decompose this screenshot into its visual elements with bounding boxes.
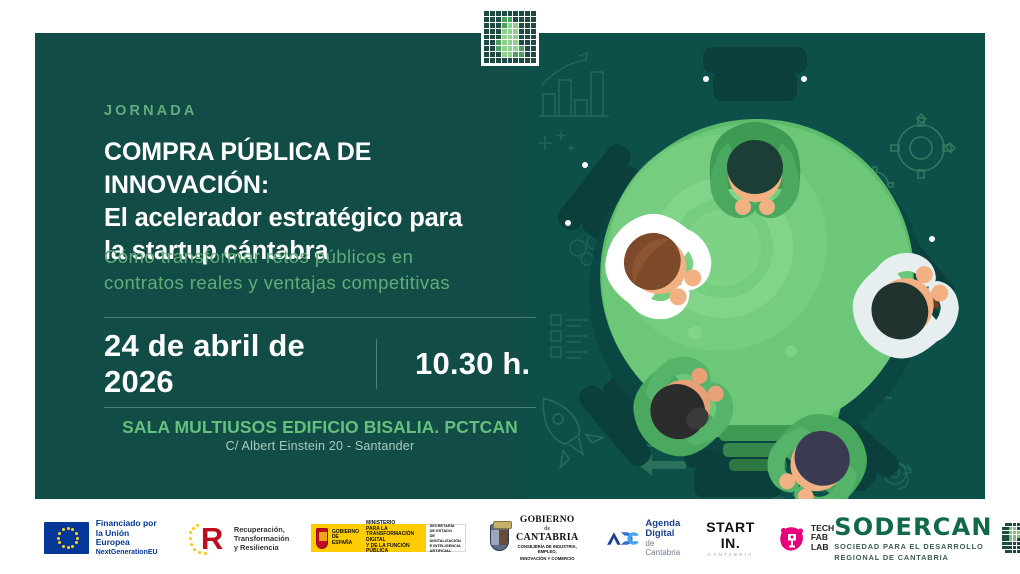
min-line-3: Y DE LA FUNCIÓN PÚBLICA	[366, 544, 421, 555]
sec-line-3: E INTELIGENCIA ARTIFICIAL	[430, 543, 461, 553]
title-line-2: El acelerador estratégico para	[104, 202, 534, 235]
event-address: C/ Albert Einstein 20 - Santander	[104, 439, 536, 453]
prtr-line-3: y Resiliencia	[234, 543, 289, 552]
cantabria-line-3: CANTABRIA	[514, 532, 580, 543]
gob-line-2: DE ESPAÑA	[332, 535, 359, 546]
coat-of-arms-icon	[316, 528, 328, 549]
sec-text: SECRETARÍA DE ESTADO DE DIGITALIZACIÓN E…	[430, 523, 461, 553]
subtitle: Cómo transformar retos públicos en contr…	[104, 244, 534, 296]
prtr-monogram-icon: R	[187, 521, 229, 555]
secretaria-estado-block: SECRETARÍA DE ESTADO DE DIGITALIZACIÓN E…	[426, 524, 466, 552]
sodercan-pixel-grid-icon	[1002, 523, 1020, 553]
event-venue: SALA MULTIUSOS EDIFICIO BISALIA. PCTCAN	[104, 417, 536, 438]
tfl-line-3: LAB	[811, 543, 834, 553]
sodercan-pixel-mark-icon	[481, 8, 539, 66]
event-poster: JORNADA COMPRA PÚBLICA DE INNOVACIÓN: El…	[0, 0, 1020, 574]
logo-gobierno-ministerio: GOBIERNO DE ESPAÑA MINISTERIO PARA LA TR…	[311, 524, 466, 552]
prtr-letter: R	[201, 523, 223, 554]
prtr-line-1: Recuperación,	[234, 525, 289, 534]
adc-line-1: Agenda Digital	[645, 519, 680, 539]
consejeria-line-1: CONSEJERÍA DE INDUSTRIA, EMPLEO,	[514, 544, 580, 554]
tech-fab-lab-icon	[777, 523, 807, 553]
logo-european-union: Financiado por la Unión Europea NextGene…	[44, 519, 161, 557]
logo-sodercan: SODERCAN SOCIEDAD PARA EL DESARROLLO REG…	[834, 515, 1020, 562]
eu-line-3: NextGenerationEU	[96, 548, 161, 558]
subtitle-line-1: Cómo transformar retos públicos en	[104, 244, 534, 270]
poster-text-content: JORNADA COMPRA PÚBLICA DE INNOVACIÓN: El…	[35, 33, 535, 499]
logo-tech-fab-lab: TECH FAB LAB	[777, 523, 834, 553]
sodercan-sub-2: REGIONAL DE CANTABRIA	[834, 553, 992, 562]
eu-line-2: la Unión Europea	[96, 529, 161, 548]
sodercan-text: SODERCAN SOCIEDAD PARA EL DESARROLLO REG…	[834, 515, 992, 562]
date-time-row: 24 de abril de 2026 10.30 h.	[104, 329, 536, 399]
tech-fab-lab-text: TECH FAB LAB	[811, 524, 834, 553]
divider-top	[104, 317, 536, 318]
sodercan-sub-1: SOCIEDAD PARA EL DESARROLLO	[834, 542, 992, 551]
divider-bottom	[104, 407, 536, 408]
logo-prtr: R Recuperación, Transformación y Resilie…	[187, 521, 289, 555]
consejeria-line-2: INNOVACIÓN Y COMERCIO	[514, 556, 580, 561]
cantabria-line-2: de	[514, 525, 580, 532]
prtr-line-2: Transformación	[234, 534, 289, 543]
sec-line-2: DE DIGITALIZACIÓN	[430, 533, 461, 543]
cantabria-text: GOBIERNO de CANTABRIA CONSEJERÍA DE INDU…	[514, 515, 580, 561]
date-time-separator	[376, 339, 377, 389]
ministerio-yellow-block: GOBIERNO DE ESPAÑA MINISTERIO PARA LA TR…	[311, 524, 425, 552]
logo-gobierno-cantabria: GOBIERNO de CANTABRIA CONSEJERÍA DE INDU…	[490, 515, 581, 561]
kicker-label: JORNADA	[104, 103, 197, 119]
eu-text: Financiado por la Unión Europea NextGene…	[96, 519, 161, 557]
event-date: 24 de abril de 2026	[104, 328, 376, 400]
sec-line-1: SECRETARÍA DE ESTADO	[430, 523, 461, 533]
start-in-line-2: CANTABRIA	[706, 552, 755, 557]
logo-agenda-digital: Agenda Digital de Cantabria	[606, 519, 680, 557]
sodercan-brand: SODERCAN	[834, 515, 992, 540]
prtr-text: Recuperación, Transformación y Resilienc…	[234, 525, 289, 552]
ministerio-dept-text: MINISTERIO PARA LA TRANSFORMACIÓN DIGITA…	[366, 521, 421, 555]
cantabria-line-1: GOBIERNO	[514, 515, 580, 525]
footer-logos: Financiado por la Unión Europea NextGene…	[0, 502, 1020, 574]
adc-monogram-icon	[606, 530, 640, 547]
event-time: 10.30 h.	[415, 346, 530, 382]
adc-text: Agenda Digital de Cantabria	[645, 519, 680, 557]
poster-panel: JORNADA COMPRA PÚBLICA DE INNOVACIÓN: El…	[35, 33, 985, 499]
cantabria-shield-icon	[490, 524, 509, 551]
subtitle-line-2: contratos reales y ventajas competitivas	[104, 270, 534, 296]
adc-line-2: de Cantabria	[645, 539, 680, 557]
ministerio-text: GOBIERNO DE ESPAÑA	[332, 530, 359, 547]
min-line-2: PARA LA TRANSFORMACIÓN DIGITAL	[366, 527, 421, 544]
meeting-table-illustration	[523, 33, 985, 499]
start-in-line-1: START IN.	[706, 519, 755, 551]
eu-flag-icon	[44, 522, 89, 554]
logo-start-in: START IN. CANTABRIA	[706, 519, 755, 557]
title-line-1: COMPRA PÚBLICA DE INNOVACIÓN:	[104, 136, 534, 202]
